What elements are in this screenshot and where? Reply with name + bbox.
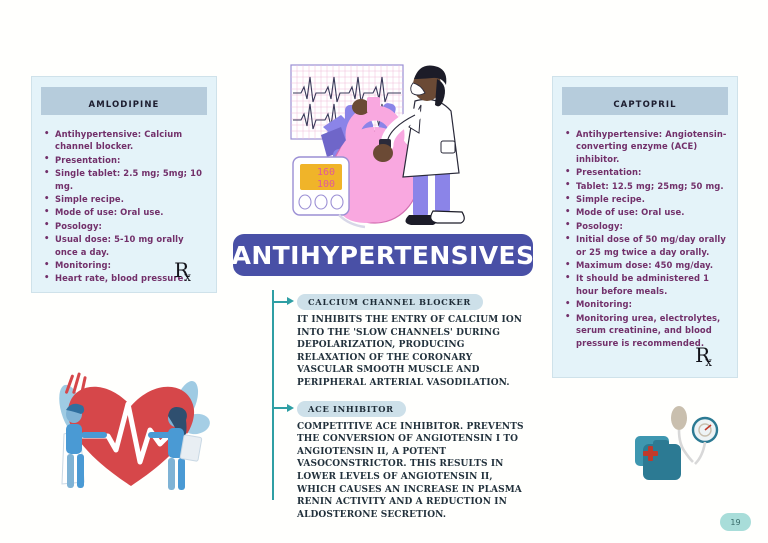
list-item: Initial dose of 50 mg/day orally or 25 m… [565,233,727,258]
page-number-badge: 19 [720,513,751,531]
mechanism-body: IT INHIBITS THE ENTRY OF CALCIUM ION INT… [297,314,527,390]
mechanism-body: COMPETITIVE ACE INHIBITOR. PREVENTS THE … [297,421,527,522]
infographic-page: AMLODIPINE Antihypertensive: Calcium cha… [0,0,768,543]
list-item: Simple recipe. [565,193,727,205]
list-item: Mode of use: Oral use. [44,206,206,218]
mechanism-label: ACE INHIBITOR [297,401,406,417]
mechanism-section: CALCIUM CHANNEL BLOCKER IT INHIBITS THE … [272,290,527,528]
list-item: Presentation: [44,154,206,166]
list-item: Mode of use: Oral use. [565,206,727,218]
arrow-right-icon [273,404,294,413]
page-number-text: 19 [730,518,740,527]
bullet-list-captopril: Antihypertensive: Angiotensin-converting… [553,128,737,349]
list-item: Presentation: [565,166,727,178]
doctor-examining-heart-illustration: 160 100 [283,57,488,237]
card-header-amlodipine: AMLODIPINE [41,87,207,115]
bp-diastolic-value: 100 [317,179,335,190]
page-title: ANTIHYPERTENSIVES [232,241,535,270]
drug-card-amlodipine: AMLODIPINE Antihypertensive: Calcium cha… [31,76,217,293]
drug-card-captopril: CAPTOPRIL Antihypertensive: Angiotensin-… [552,76,738,378]
list-item: Monitoring: [565,298,727,310]
bp-systolic-value: 160 [317,167,335,178]
list-item: Posology: [565,220,727,232]
main-title-banner: ANTIHYPERTENSIVES [233,234,533,276]
list-item: Single tablet: 2.5 mg; 5mg; 10 mg. [44,167,206,192]
list-item: Antihypertensive: Angiotensin-converting… [565,128,727,165]
heart-with-pulse-line-illustration [36,358,226,496]
list-item: Antihypertensive: Calcium channel blocke… [44,128,206,153]
arrow-right-icon [273,297,294,306]
list-item: Tablet: 12.5 mg; 25mg; 50 mg. [565,180,727,192]
mechanism-item-ace-inhibitor: ACE INHIBITOR COMPETITIVE ACE INHIBITOR.… [272,397,527,522]
card-title-captopril: CAPTOPRIL [613,100,676,110]
first-aid-kit-sphygmomanometer-illustration [633,400,743,495]
card-header-captopril: CAPTOPRIL [562,87,728,115]
rx-symbol: Rx [174,258,190,284]
list-item: Usual dose: 5-10 mg orally once a day. [44,233,206,258]
list-item: Maximum dose: 450 mg/day. [565,259,727,271]
mechanism-item-calcium-channel-blocker: CALCIUM CHANNEL BLOCKER IT INHIBITS THE … [272,290,527,390]
list-item: Posology: [44,220,206,232]
mechanism-label: CALCIUM CHANNEL BLOCKER [297,294,483,310]
rx-symbol: Rx [695,343,711,369]
card-title-amlodipine: AMLODIPINE [89,100,160,110]
list-item: Simple recipe. [44,193,206,205]
list-item: It should be administered 1 hour before … [565,272,727,297]
